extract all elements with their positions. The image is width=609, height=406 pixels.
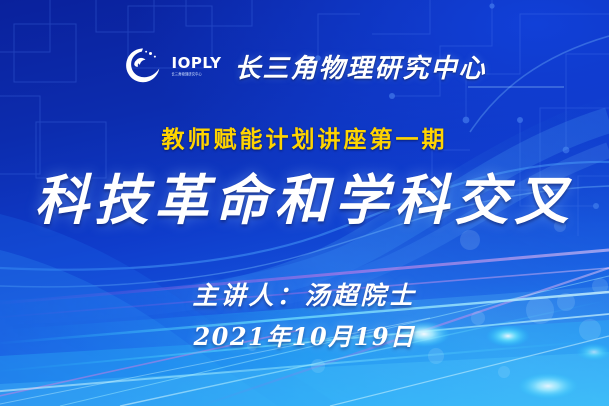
organization-name: 长三角物理研究中心	[234, 48, 486, 85]
poster-header: IOPLY 长三角物理研究中心 长三角物理研究中心	[0, 46, 609, 86]
event-poster: IOPLY 长三角物理研究中心 长三角物理研究中心 教师赋能计划讲座第一期 科技…	[0, 0, 609, 406]
poster-content: IOPLY 长三角物理研究中心 长三角物理研究中心 教师赋能计划讲座第一期 科技…	[0, 0, 609, 406]
crescent-phoenix-emblem-icon	[123, 46, 163, 86]
page-title: 科技革命和学科交叉	[0, 172, 609, 229]
brandmark: IOPLY 长三角物理研究中心	[172, 56, 222, 76]
brand-latin-text: IOPLY	[172, 56, 222, 71]
series-subtitle: 教师赋能计划讲座第一期	[0, 120, 609, 154]
brand-sub-text: 长三角物理研究中心	[172, 73, 222, 77]
event-date: 2021年10月19日	[0, 317, 609, 352]
speaker-line: 主讲人：汤超院士	[0, 276, 609, 312]
